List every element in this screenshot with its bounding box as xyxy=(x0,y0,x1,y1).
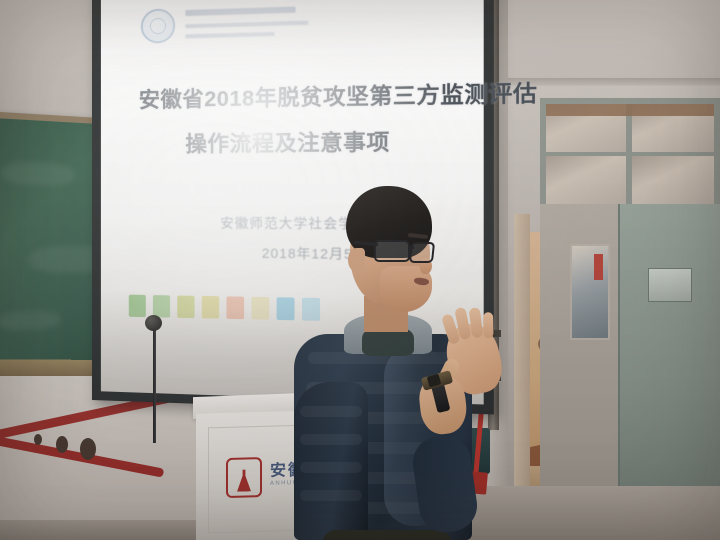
quilt-seam xyxy=(300,462,362,473)
trousers xyxy=(322,530,452,540)
wall-ornament-oval xyxy=(56,436,68,453)
transom-glass-pane xyxy=(546,156,626,204)
door-assembly xyxy=(508,18,720,518)
chalk-smudge xyxy=(1,161,75,186)
vest-sleeve xyxy=(294,382,368,540)
wooden-beam-reflection xyxy=(546,104,714,116)
presenter xyxy=(288,186,503,540)
eyeglasses-bridge xyxy=(408,246,414,249)
chalk-smudge xyxy=(0,310,60,331)
open-door-leaf[interactable] xyxy=(514,214,530,510)
microphone-stand xyxy=(153,325,156,443)
quilt-seam xyxy=(300,434,362,445)
finger xyxy=(469,307,484,338)
door-vent-grille xyxy=(648,268,692,302)
red-poster-strip xyxy=(594,254,603,280)
finger xyxy=(483,312,493,338)
eyeglasses-icon xyxy=(374,240,410,262)
quilt-seam xyxy=(300,406,362,417)
door-right-panel[interactable] xyxy=(618,204,720,504)
quilt-seam xyxy=(300,490,362,501)
transom-glass-pane xyxy=(632,156,714,204)
classroom-lecture-photo: 安徽省2018年脱贫攻坚第三方监测评估 操作流程及注意事项 安徽师范大学社会学系… xyxy=(0,0,720,540)
red-university-seal-icon xyxy=(226,457,262,498)
wall-ornament-oval xyxy=(80,438,96,460)
wall-ornament-oval xyxy=(34,434,42,445)
microphone-icon xyxy=(145,315,162,331)
door-window-pane xyxy=(570,244,610,340)
ear xyxy=(348,248,365,272)
